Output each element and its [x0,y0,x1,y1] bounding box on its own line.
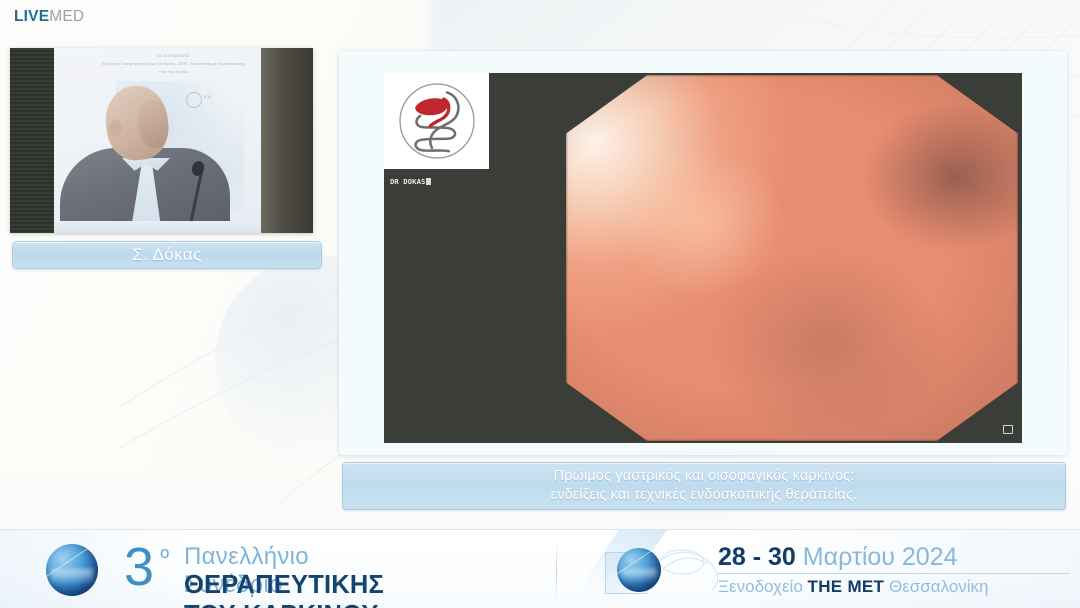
gastroenterology-logo [384,73,489,169]
endoscopy-vignette [566,75,1018,441]
speaker-name-label: Σ. Δόκας [132,245,201,265]
conference-details-block: 28 - 30 Μαρτίου 2024 Ξενοδοχείο THE MET … [718,543,1070,597]
speaker-video[interactable]: Σε συνεργασία: Ελληνική Γαστρεντερολογικ… [10,48,313,233]
conference-venue: Ξενοδοχείο THE MET Θεσσαλονίκη [718,576,1070,597]
podium-desk [54,221,261,233]
room-curtain-left [10,48,54,233]
stomach-intestine-icon [395,79,479,163]
conference-date-month: Μαρτίου 2024 [803,543,958,571]
caption-line-1: Πρώιμος γαστρικός και οισοφαγικός καρκίν… [553,467,854,486]
speaker-name-badge: Σ. Δόκας [12,241,322,269]
recording-indicator-icon [1003,425,1013,434]
speaker-ear [109,120,122,137]
banner-separator [556,538,557,602]
backdrop-line-1: Σε συνεργασία: [65,52,283,60]
conference-banner: 3 ο Πανελλήνιο Συνέδριο ΘΕΡΑΠΕΥΤΙΚΗΣ ΤΟΥ… [0,529,1080,608]
conference-details-rule [718,573,1070,574]
backdrop-line-3: Υπό την αιγίδα: [65,68,283,76]
presentation-slide[interactable]: CUT:14 ■■■/■□□(13/14) Eh:A1 Cm:1 DR DOKA… [339,51,1067,455]
room-wall-right [261,48,313,233]
slide-title-caption: Πρώιμος γαστρικός και οισοφαγικός καρκίν… [342,462,1066,510]
conference-ordinal-superscript: ο [160,543,169,563]
backdrop-text: Σε συνεργασία: Ελληνική Γαστρεντερολογικ… [65,52,283,76]
venue-name: THE MET [808,577,885,596]
brand-med-text: MED [49,8,84,25]
backdrop-logo-icon [186,92,202,108]
conference-date: 28 - 30 Μαρτίου 2024 [718,543,1070,572]
conference-ordinal-number: 3 [124,539,154,595]
broadcast-screen: LIVEMED Σε συνεργασία: Ελληνική Γαστρεντ… [0,0,1080,608]
backdrop-line-2: Ελληνική Γαστρεντερολογική Εταιρεία, ΑΠΘ… [65,60,283,68]
venue-prefix: Ξενοδοχείο [718,577,803,596]
osd-operator: DR DOKAS [390,177,425,186]
conference-title: ΘΕΡΑΠΕΥΤΙΚΗΣ ΤΟΥ ΚΑΡΚΙΝΟΥ [184,570,384,608]
osd-cursor-icon [426,178,431,185]
backdrop-logo-text: ΑΠΘ [204,95,211,100]
brand-live-text: LIVE [14,8,49,25]
livemed-logo: LIVEMED [14,9,84,25]
venue-city: Θεσσαλονίκη [889,577,989,596]
conference-date-days: 28 - 30 [718,543,796,571]
caption-line-2: ενδείξεις και τεχνικές ενδοσκοπικής θερα… [551,486,858,505]
